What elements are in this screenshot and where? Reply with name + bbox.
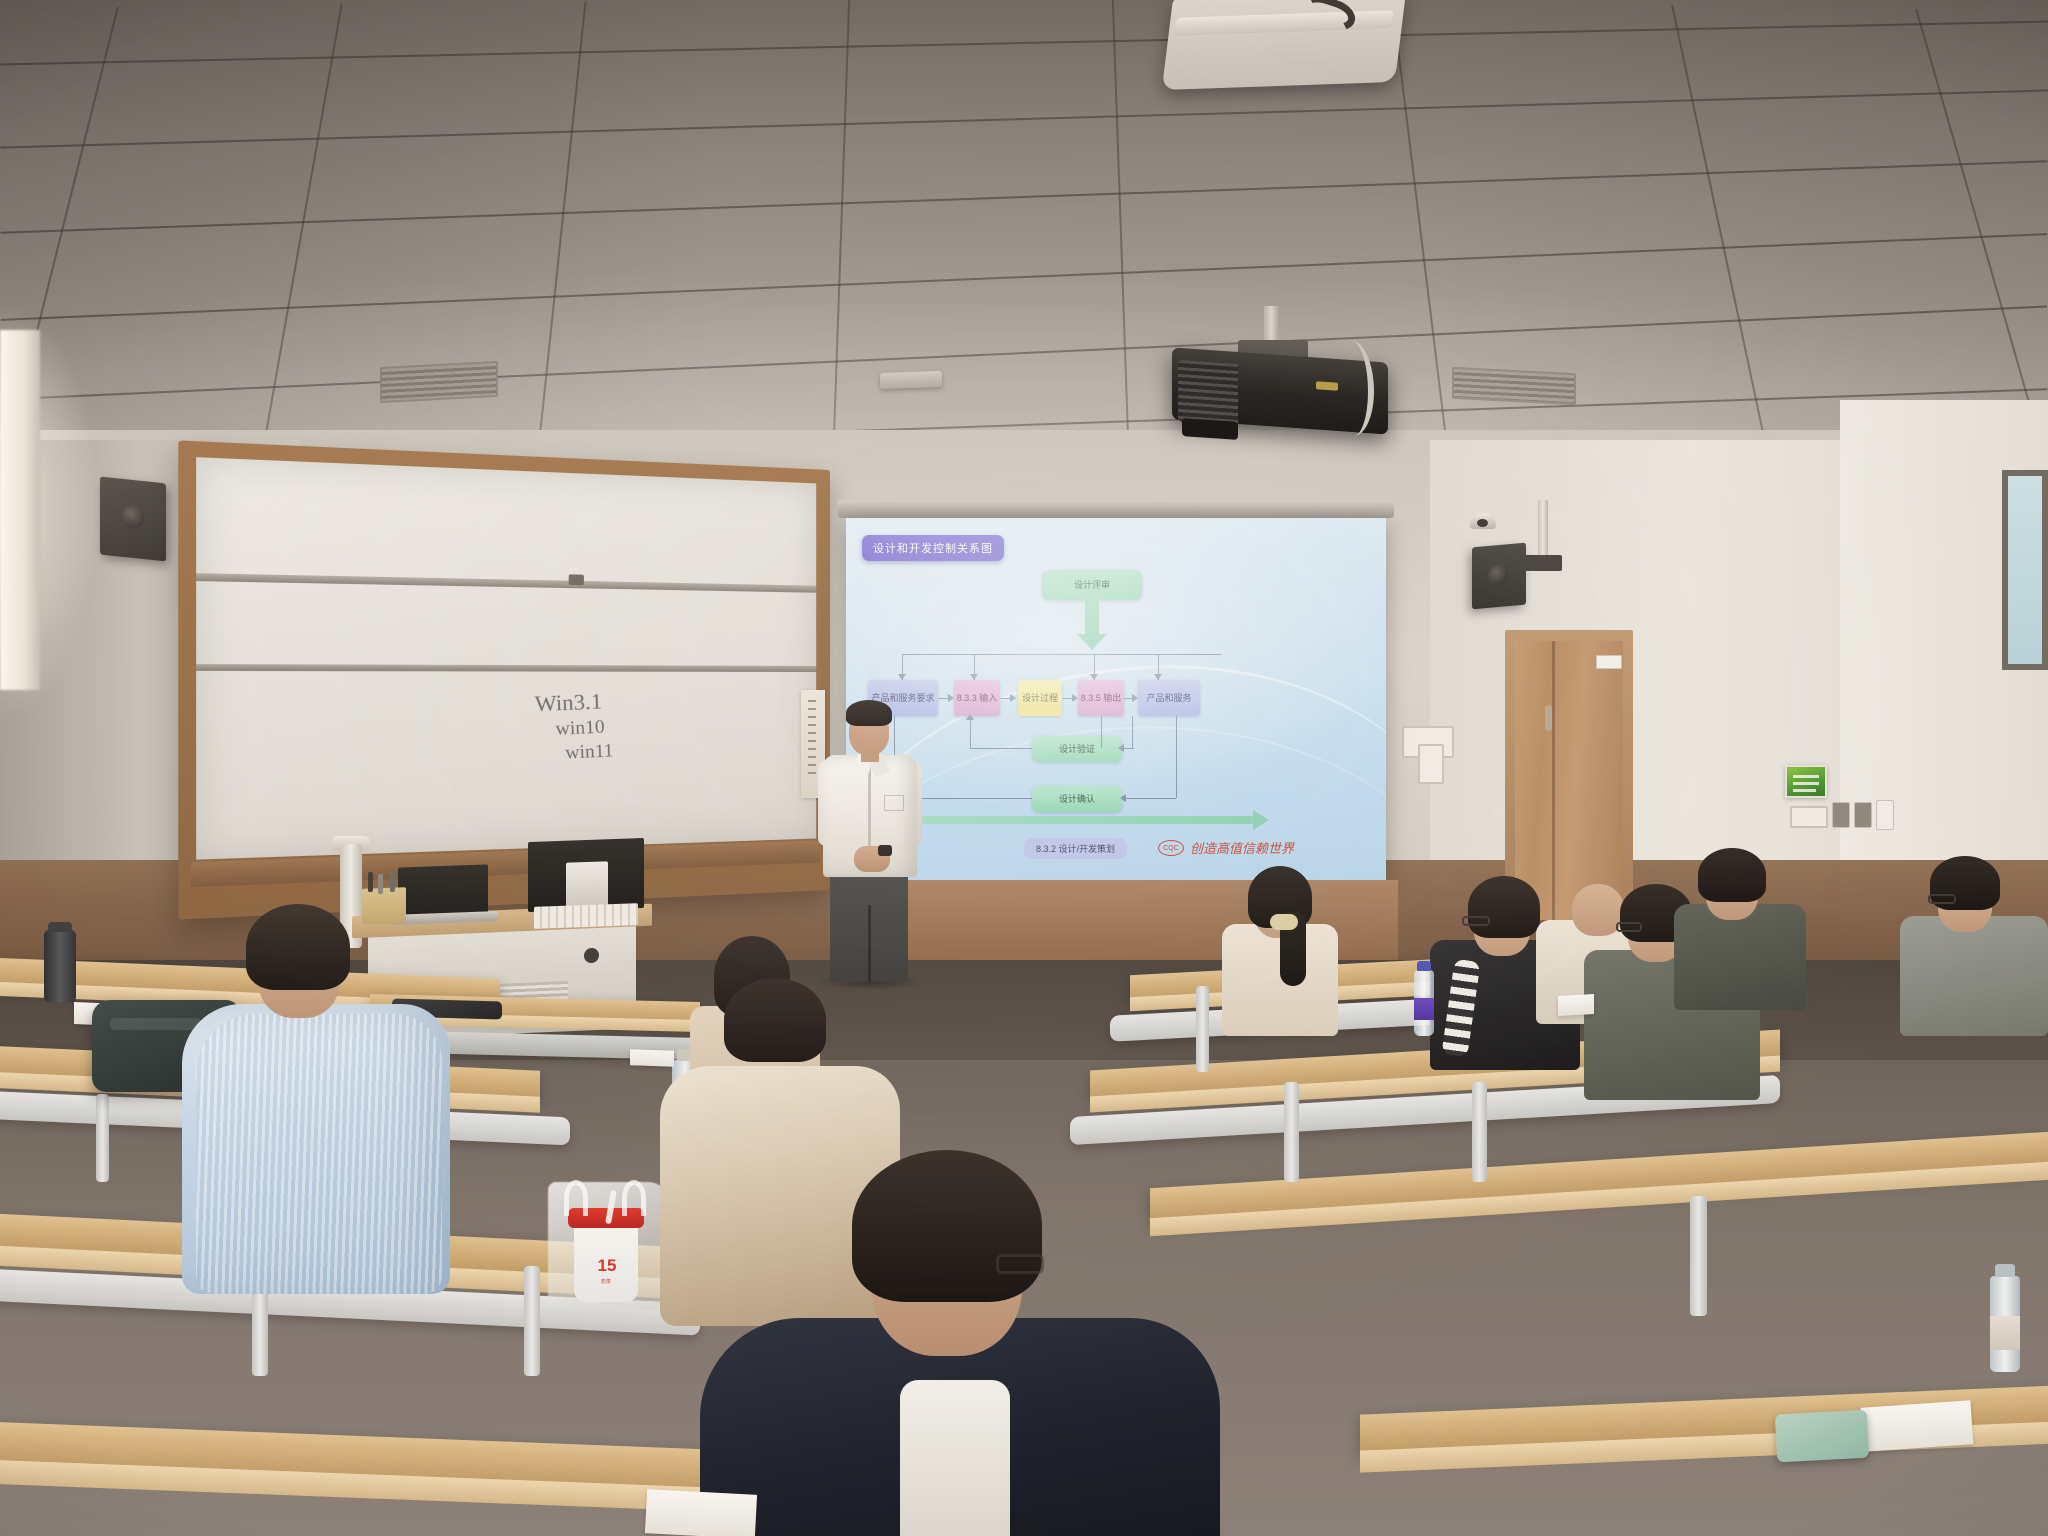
light-switch[interactable] (1832, 802, 1850, 828)
attendee-torso (1674, 904, 1806, 1010)
presenter-hair (846, 700, 892, 726)
diagram-flow-arrow (908, 816, 1253, 824)
safety-notice-sign (1785, 765, 1827, 798)
paper-sheet (645, 1489, 757, 1536)
projector-vent (1178, 360, 1238, 426)
desk-leg (1472, 1082, 1487, 1182)
pen-holder (362, 887, 406, 925)
attendee-hair (1468, 876, 1540, 938)
right-wall-far (1430, 440, 1860, 910)
slide-footer-label: 8.3.2 设计/开发策划 (1024, 838, 1127, 859)
slide-logo-tagline: 创造高值信赖世界 (1190, 838, 1294, 857)
phone-icon[interactable] (1775, 1410, 1869, 1463)
whiteboard-writing: Win3.1 win10 win11 (534, 683, 739, 766)
wristwatch-icon (878, 845, 892, 856)
door[interactable] (1515, 641, 1623, 920)
drink-cup-sublabel: 奶茶 (576, 1278, 636, 1285)
glasses-icon (1462, 916, 1490, 926)
right-window (2002, 470, 2048, 670)
wall-speaker-icon (1472, 543, 1526, 610)
whiteboard-clip (569, 574, 584, 585)
paper-sheet (630, 1049, 674, 1067)
diagram-node-confirmation: 设计确认 (1032, 786, 1122, 812)
diagram-node-review: 设计评审 (1042, 570, 1142, 600)
diagram-bus-top (902, 654, 1222, 655)
classroom-photo: Win3.1 win10 win11 设计和开发控制关系图 设计评审 (0, 0, 2048, 1536)
whiteboard-rail (196, 664, 816, 672)
slide-diagram: 设计评审 产品和服务要求 8.3.3 输入 设计过程 8.3.5 输出 产品和服… (846, 518, 1386, 880)
attendee-hair (1698, 848, 1766, 902)
thermos-flask[interactable] (44, 930, 76, 1002)
projection-screen: 设计和开发控制关系图 设计评审 产品和服务要求 8.3.3 输入 设计过程 8.… (846, 518, 1386, 880)
takeaway-drink-bag[interactable]: 15 奶茶 (548, 1182, 670, 1310)
attendee-hair (852, 1150, 1042, 1302)
attendee-torso (1900, 916, 2048, 1036)
diagram-node-process: 设计过程 (1018, 680, 1062, 716)
attendee-hair (246, 904, 350, 990)
wall-control-box (1522, 555, 1562, 571)
ceiling-conduit (1538, 500, 1548, 558)
glasses-icon (1928, 894, 1956, 904)
left-window (0, 330, 40, 690)
wall-panel (1790, 806, 1828, 828)
pen-icon (390, 872, 395, 892)
desk-leg (1284, 1082, 1299, 1182)
attendee-hair (724, 978, 826, 1062)
projection-screen-housing (838, 500, 1394, 518)
desk-leg (1196, 986, 1209, 1072)
diagram-arrow-down-main (1085, 600, 1099, 634)
water-bottle[interactable] (1990, 1276, 2020, 1372)
paper-sheet (1558, 994, 1594, 1016)
shirt-stripes (196, 1014, 442, 1294)
diagram-node-input: 8.3.3 输入 (954, 680, 1000, 716)
glasses-icon (1616, 922, 1642, 932)
cqc-logo-icon: CQC (1158, 840, 1184, 856)
hair-tie (1270, 914, 1298, 930)
pen-icon (368, 872, 373, 892)
pen-icon (378, 874, 383, 894)
projector-lens (1182, 418, 1238, 440)
keyboard-icon[interactable] (534, 903, 638, 929)
door-sign (1596, 655, 1622, 669)
door-seam (1552, 641, 1555, 920)
collar-shirt (900, 1380, 1010, 1536)
document-holder (566, 861, 608, 906)
desk-leg (1690, 1196, 1707, 1316)
wall-outlet[interactable] (1876, 800, 1894, 830)
ceiling (0, 0, 2048, 470)
water-bottle[interactable] (1414, 970, 1434, 1036)
desk-leg (524, 1266, 540, 1376)
paper-sheet (1861, 1400, 1974, 1452)
diagram-node-verification: 设计验证 (1032, 736, 1122, 762)
glasses-icon (996, 1254, 1044, 1274)
whiteboard: Win3.1 win10 win11 (178, 440, 830, 919)
light-switch[interactable] (1854, 802, 1872, 828)
door-handle[interactable] (1545, 705, 1552, 731)
diagram-node-product: 产品和服务 (1138, 680, 1200, 716)
diagram-node-output: 8.3.5 输出 (1078, 680, 1124, 716)
whiteboard-surface (196, 457, 816, 859)
desk-leg (96, 1094, 109, 1182)
drink-cup-label: 15 (580, 1256, 634, 1276)
wall-speaker-icon (100, 477, 166, 562)
wall-notice (1418, 744, 1444, 784)
